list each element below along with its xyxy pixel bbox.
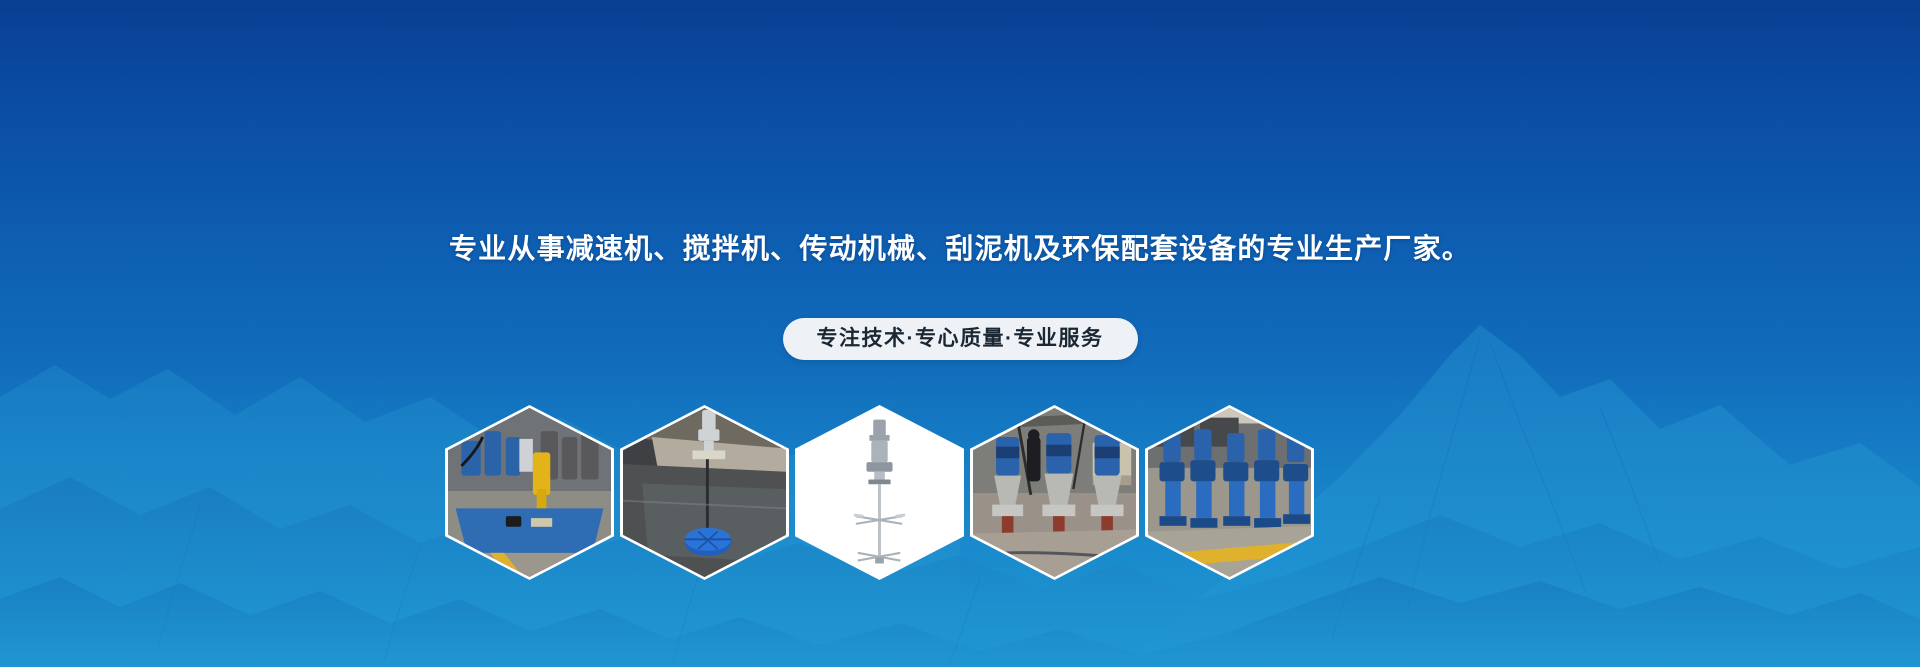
hex-photo-tank-mixer[interactable] [620, 405, 789, 580]
hex-image-3 [798, 408, 961, 577]
slogan-container: 专注技术·专心质量·专业服务 [0, 318, 1920, 360]
page-title: 专业从事减速机、搅拌机、传动机械、刮泥机及环保配套设备的专业生产厂家。 [0, 232, 1920, 266]
hero-banner: 专业从事减速机、搅拌机、传动机械、刮泥机及环保配套设备的专业生产厂家。 专注技术… [0, 0, 1920, 667]
hex-image-5 [1148, 408, 1311, 577]
hexagon-gallery [445, 405, 1480, 580]
hex-photo-vertical-agitator[interactable] [795, 405, 964, 580]
hex-image-4 [973, 408, 1136, 577]
hex-image-2 [623, 408, 786, 577]
hex-image-1 [448, 408, 611, 577]
slogan-badge: 专注技术·专心质量·专业服务 [783, 318, 1138, 360]
hex-photo-reducer-array[interactable] [1145, 405, 1314, 580]
hex-photo-gearbox-assembly[interactable] [445, 405, 614, 580]
hex-photo-workshop-mixers[interactable] [970, 405, 1139, 580]
